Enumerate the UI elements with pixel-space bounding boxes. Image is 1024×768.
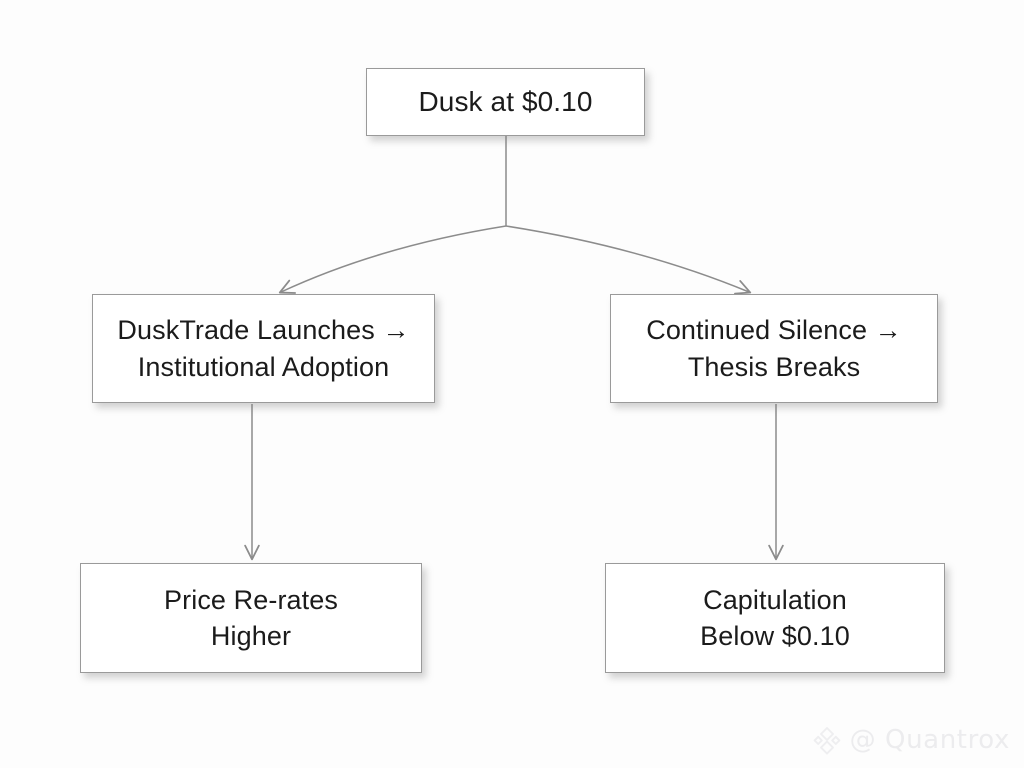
edge-root-to-bull [281, 226, 506, 292]
node-label: Continued Silence → Thesis Breaks [638, 312, 910, 384]
node-label: Dusk at $0.10 [410, 83, 600, 121]
node-price-re-rates-higher[interactable]: Price Re-rates Higher [80, 563, 422, 673]
node-dusk-at-price[interactable]: Dusk at $0.10 [366, 68, 645, 136]
node-label: Capitulation Below $0.10 [692, 582, 858, 654]
node-continued-silence[interactable]: Continued Silence → Thesis Breaks [610, 294, 938, 403]
node-label: Price Re-rates Higher [156, 582, 346, 654]
diagram-canvas: Dusk at $0.10 DuskTrade Launches → Insti… [0, 0, 1024, 768]
node-label: DuskTrade Launches → Institutional Adopt… [109, 312, 417, 384]
node-capitulation-below-price[interactable]: Capitulation Below $0.10 [605, 563, 945, 673]
edge-root-to-bear [506, 226, 749, 292]
node-dusktrade-launches[interactable]: DuskTrade Launches → Institutional Adopt… [92, 294, 435, 403]
